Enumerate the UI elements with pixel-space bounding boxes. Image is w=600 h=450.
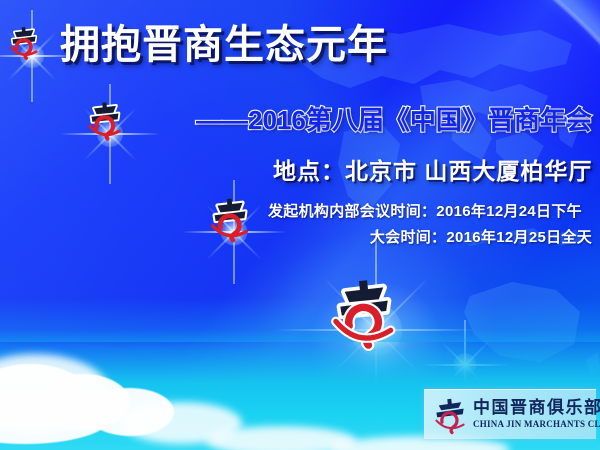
emblem-icon-1 — [6, 25, 42, 61]
poster-canvas: 拥抱晋商生态元年 ——2016第八届《中国》晋商年会 地点：北京市 山西大厦柏华… — [0, 0, 600, 450]
page-subtitle: ——2016第八届《中国》晋商年会 — [196, 100, 592, 137]
main-meeting-time: 大会时间：2016年12月25日全天 — [370, 226, 592, 247]
club-name-cn: 中国晋商俱乐部 — [473, 400, 600, 418]
club-name-en: CHINA JIN MARCHANTS CLUB — [473, 419, 600, 429]
emblem-icon-large — [327, 277, 401, 351]
internal-meeting-time: 发起机构内部会议时间：2016年12月24日下午 — [268, 200, 582, 221]
jin-e-monogram-icon — [430, 395, 470, 435]
emblem-icon-2 — [84, 100, 126, 142]
emblem-icon-3 — [206, 196, 254, 244]
venue-line: 地点：北京市 山西大厦柏华厅 — [273, 152, 592, 186]
club-logo-card: 中国晋商俱乐部 CHINA JIN MARCHANTS CLUB — [424, 389, 596, 439]
club-logo-text: 中国晋商俱乐部 CHINA JIN MARCHANTS CLUB — [473, 400, 600, 430]
page-title: 拥抱晋商生态元年 — [60, 22, 388, 68]
